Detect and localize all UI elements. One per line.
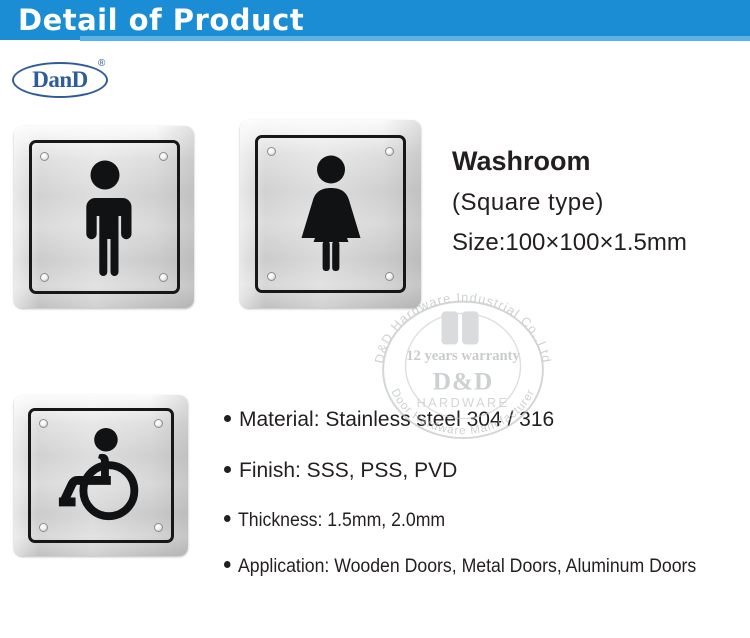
female-washroom-sign-plate (240, 120, 421, 308)
screw-icon (154, 523, 163, 532)
screw-icon (154, 419, 163, 428)
screw-icon (385, 272, 394, 281)
bullet-icon (224, 415, 231, 422)
spec-item-label: Material: Stainless steel 304 / 316 (239, 408, 554, 432)
male-figure-icon (70, 160, 140, 276)
spec-item-finish: Finish: SSS, PSS, PVD (224, 459, 750, 483)
screw-icon (159, 273, 168, 282)
screw-icon (39, 419, 48, 428)
product-headings: Washroom (Square type) Size:100×100×1.5m… (452, 148, 750, 255)
screw-icon (39, 523, 48, 532)
screw-icon (267, 272, 276, 281)
bullet-icon (224, 561, 231, 568)
spec-item-thickness: Thickness: 1.5mm, 2.0mm (224, 510, 713, 532)
screw-icon (267, 147, 276, 156)
bullet-icon (224, 466, 231, 473)
spec-item-label: Application: Wooden Doors, Metal Doors, … (238, 556, 696, 578)
product-spec-list: Material: Stainless steel 304 / 316 Fini… (224, 408, 750, 602)
accessible-washroom-sign-plate (14, 395, 188, 556)
watermark-warranty-text: 12 years warranty (406, 348, 520, 364)
spec-item-material: Material: Stainless steel 304 / 316 (224, 408, 750, 432)
watermark-brand-text: D&D (433, 367, 494, 395)
logo-wordmark: DanD (22, 67, 98, 93)
bullet-icon (224, 515, 231, 522)
wheelchair-icon (54, 427, 152, 525)
page-title: Detail of Product (18, 3, 304, 37)
spec-item-label: Finish: SSS, PSS, PVD (239, 459, 457, 483)
screw-icon (40, 152, 49, 161)
screw-icon (40, 273, 49, 282)
registered-trademark-icon: ® (98, 58, 105, 69)
product-name-heading: Washroom (452, 148, 750, 175)
product-size-text: Size:100×100×1.5mm (452, 231, 750, 255)
brand-logo: DanD ® (12, 58, 116, 102)
watermark-door-icon (442, 311, 479, 344)
page-header-banner: Detail of Product (0, 0, 750, 40)
product-type-subheading: (Square type) (452, 191, 750, 215)
spec-item-application: Application: Wooden Doors, Metal Doors, … (224, 556, 713, 578)
female-figure-icon (291, 155, 371, 275)
male-washroom-sign-plate (14, 126, 194, 308)
screw-icon (159, 152, 168, 161)
spec-item-label: Thickness: 1.5mm, 2.0mm (238, 510, 445, 532)
screw-icon (385, 147, 394, 156)
